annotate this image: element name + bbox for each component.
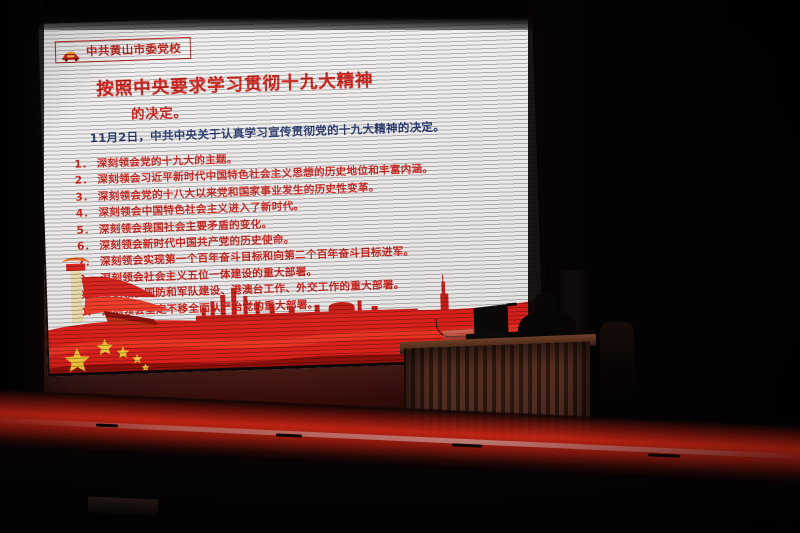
desk-microphone-icon	[506, 302, 517, 306]
floor-marker-plate	[88, 497, 159, 516]
side-chair	[600, 322, 634, 404]
stage-foreground	[0, 0, 800, 533]
conference-hall-photo: 中共黄山市委党校 按照中央要求学习贯彻十九大精神 的决定。 11月2日，中共中央…	[0, 0, 800, 533]
